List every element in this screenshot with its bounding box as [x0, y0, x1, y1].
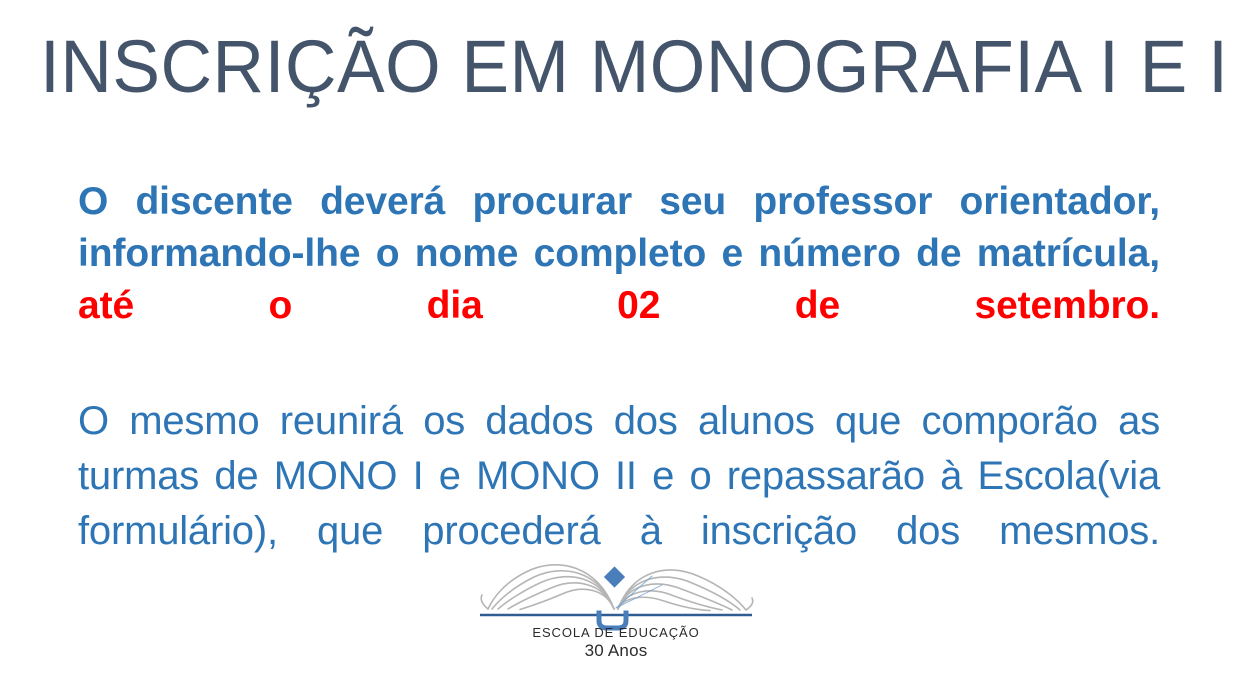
- page-title: INSCRIÇÃO EM MONOGRAFIA I E II: [40, 20, 1159, 115]
- slide-canvas: INSCRIÇÃO EM MONOGRAFIA I E II O discent…: [0, 0, 1233, 691]
- logo-caption-line2: 30 Anos: [466, 641, 766, 660]
- escola-de-educacao-logo: ESCOLA DE EDUCAÇÃO 30 Anos: [466, 552, 766, 672]
- paragraph-deadline-date: até o dia 02 de setembro.: [78, 284, 1160, 327]
- logo-caption: ESCOLA DE EDUCAÇÃO 30 Anos: [466, 625, 766, 660]
- paragraph-deadline: O discente deverá procurar seu professor…: [78, 176, 1160, 384]
- blue-diamond-icon: [604, 566, 625, 587]
- logo-caption-line1: ESCOLA DE EDUCAÇÃO: [466, 625, 766, 641]
- paragraph-deadline-lead: O discente deverá procurar seu professor…: [78, 180, 1160, 275]
- open-book-icon: [466, 552, 766, 632]
- body-content: O discente deverá procurar seu professor…: [78, 176, 1160, 614]
